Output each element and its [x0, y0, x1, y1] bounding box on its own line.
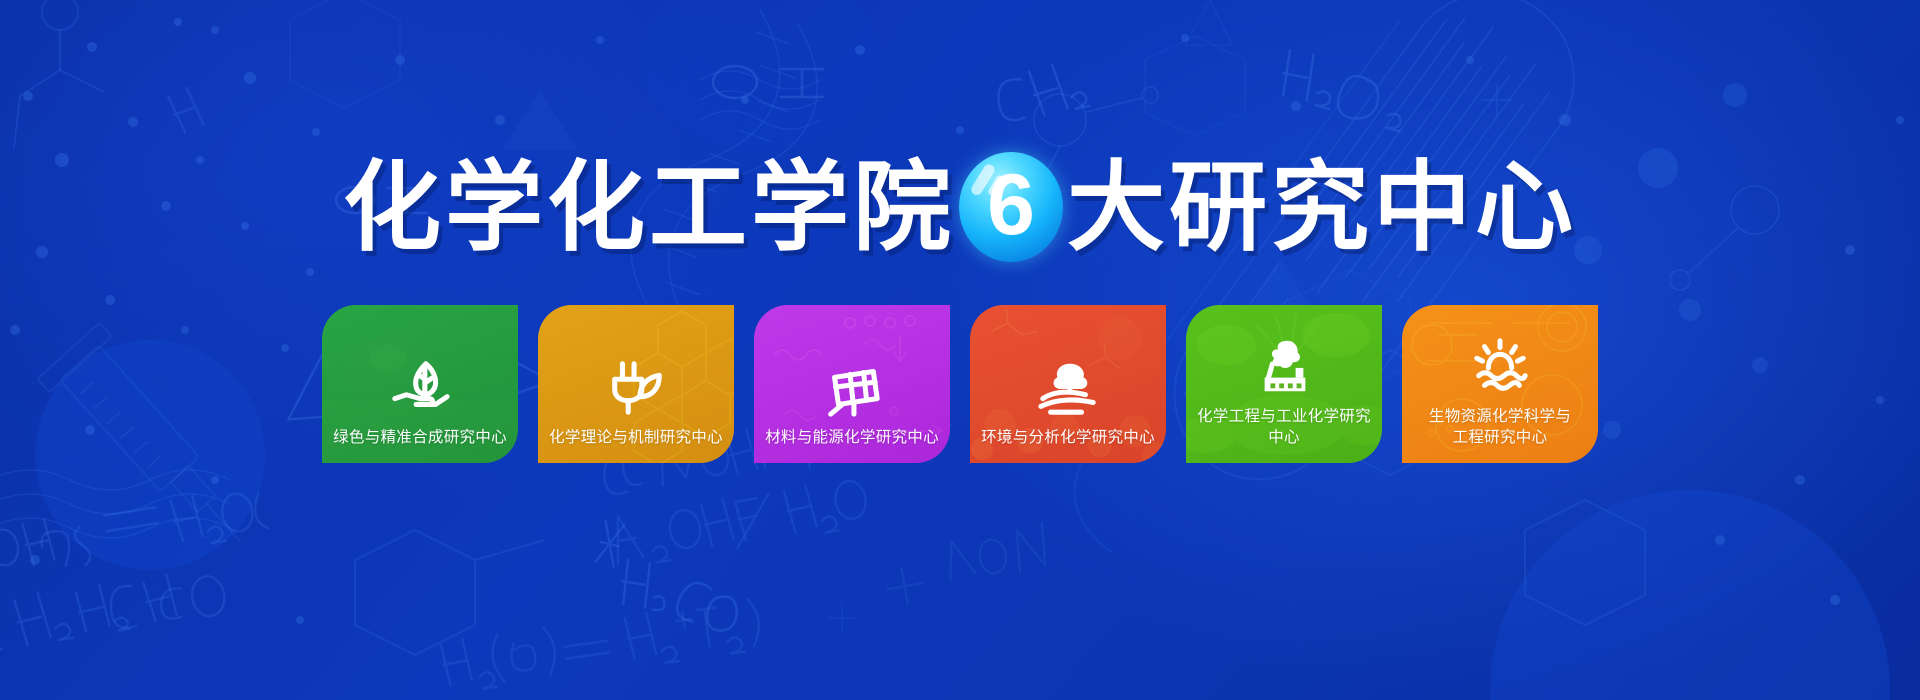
- title-right-text: 大研究中心: [1067, 158, 1577, 256]
- research-center-card[interactable]: 绿色与精准合成研究中心: [322, 305, 518, 463]
- card-label: 生物资源化学科学与 工程研究中心: [1421, 407, 1579, 449]
- card-label: 环境与分析化学研究中心: [973, 428, 1163, 449]
- badge-number: 6: [987, 162, 1035, 248]
- title-left-text: 化学化工学院: [343, 158, 955, 256]
- card-label: 化学理论与机制研究中心: [541, 428, 731, 449]
- solar-panel-icon: [821, 356, 883, 418]
- research-center-card[interactable]: 材料与能源化学研究中心: [754, 305, 950, 463]
- banner-title: 化学化工学院 6 大研究中心: [0, 152, 1920, 262]
- research-centers-banner: 化学化工学院 6 大研究中心: [0, 0, 1920, 700]
- card-label: 化学工程与工业化学研究中心: [1186, 407, 1382, 449]
- card-label: 绿色与精准合成研究中心: [325, 428, 515, 449]
- tree-land-icon: [1037, 356, 1099, 418]
- research-center-card[interactable]: 环境与分析化学研究中心: [970, 305, 1166, 463]
- factory-icon: [1253, 335, 1315, 397]
- research-center-card[interactable]: 化学理论与机制研究中心: [538, 305, 734, 463]
- power-plug-leaf-icon: [605, 356, 667, 418]
- research-center-card[interactable]: 生物资源化学科学与 工程研究中心: [1402, 305, 1598, 463]
- research-center-card[interactable]: 化学工程与工业化学研究中心: [1186, 305, 1382, 463]
- count-badge: 6: [959, 152, 1063, 262]
- research-center-card-list: 绿色与精准合成研究中心: [0, 305, 1920, 463]
- sun-water-icon: [1469, 335, 1531, 397]
- card-label: 材料与能源化学研究中心: [757, 428, 947, 449]
- hand-holding-leaf-icon: [389, 356, 451, 418]
